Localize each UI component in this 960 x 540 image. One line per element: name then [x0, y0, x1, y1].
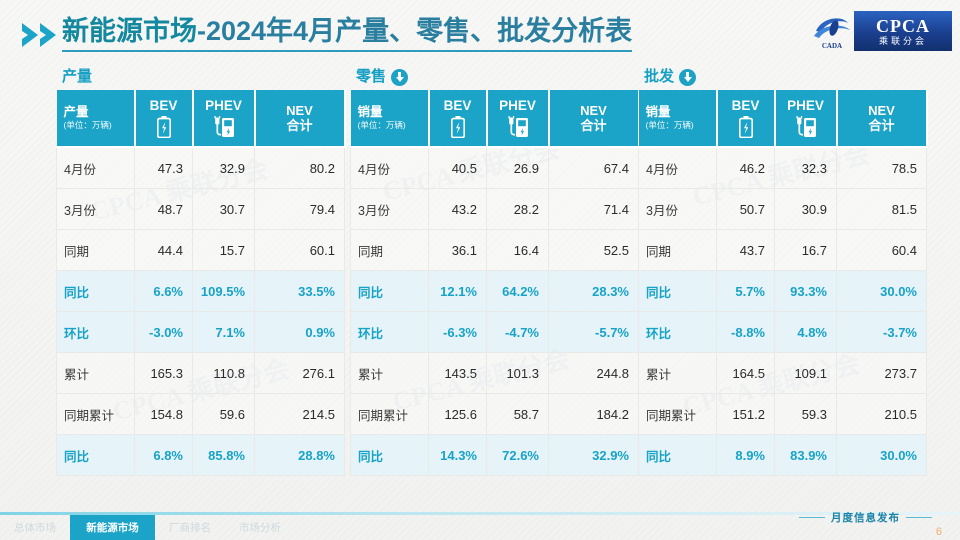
header-nev-label1: NEV: [550, 103, 638, 118]
header-cell-nev: NEV 合计: [837, 90, 927, 147]
header-phev-label: PHEV: [776, 98, 836, 113]
cell-nev: 244.8: [549, 353, 639, 394]
row-label: 环比: [57, 312, 135, 353]
cell-phev: 101.3: [487, 353, 549, 394]
cpca-logo: CADA CPCA 乘联分会: [810, 10, 952, 52]
header-bev-label: BEV: [136, 98, 192, 113]
row-label: 4月份: [57, 147, 135, 189]
cell-nev: -3.7%: [837, 312, 927, 353]
charging-station-icon: [194, 116, 254, 138]
cell-bev: 36.1: [429, 230, 487, 271]
cell-phev: 7.1%: [193, 312, 255, 353]
row-label: 4月份: [351, 147, 429, 189]
cell-phev: 85.8%: [193, 435, 255, 476]
row-label: 3月份: [57, 189, 135, 230]
battery-icon: [718, 116, 774, 138]
badge-rule-right: [906, 517, 932, 518]
table-header-row: 产量 (单位：万辆) BEV PHEV: [57, 90, 345, 147]
cell-bev: 14.3%: [429, 435, 487, 476]
row-label: 同期: [351, 230, 429, 271]
retail-table-body: 4月份40.526.967.4 3月份43.228.271.4 同期36.116…: [351, 147, 639, 476]
header-cell-bev: BEV: [429, 90, 487, 147]
table-row: 环比-8.8%4.8%-3.7%: [639, 312, 927, 353]
cell-bev: 40.5: [429, 147, 487, 189]
cell-nev: 60.4: [837, 230, 927, 271]
cell-phev: 32.3: [775, 147, 837, 189]
cell-phev: 16.4: [487, 230, 549, 271]
cell-phev: 109.1: [775, 353, 837, 394]
table-row: 同期36.116.452.5: [351, 230, 639, 271]
cell-nev: -5.7%: [549, 312, 639, 353]
page-number: 6: [936, 526, 942, 538]
battery-icon: [136, 116, 192, 138]
table-row: 4月份47.332.980.2: [57, 147, 345, 189]
row-label: 4月份: [639, 147, 717, 189]
table-row: 同比12.1%64.2%28.3%: [351, 271, 639, 312]
header-unit-label: (单位：万辆): [64, 120, 134, 131]
block-title-text: 零售: [356, 65, 386, 89]
cell-phev: 26.9: [487, 147, 549, 189]
footer-tabs: 总体市场 新能源市场 厂商排名 市场分析: [0, 515, 295, 540]
table-row: 累计143.5101.3244.8: [351, 353, 639, 394]
header-bev-label: BEV: [718, 98, 774, 113]
tab-label: 厂商排名: [169, 520, 211, 535]
header-phev-label: PHEV: [488, 98, 548, 113]
header-corner-label: 销量: [358, 105, 428, 120]
cell-nev: 67.4: [549, 147, 639, 189]
battery-icon: [430, 116, 486, 138]
cell-nev: 30.0%: [837, 435, 927, 476]
cell-bev: 151.2: [717, 394, 775, 435]
header-cell-phev: PHEV: [193, 90, 255, 147]
row-label: 同期累计: [57, 394, 135, 435]
cell-nev: 79.4: [255, 189, 345, 230]
cell-phev: 64.2%: [487, 271, 549, 312]
row-label: 3月份: [639, 189, 717, 230]
row-label: 同比: [639, 435, 717, 476]
cell-bev: 43.7: [717, 230, 775, 271]
charging-station-icon: [776, 116, 836, 138]
footer-right: 月度信息发布 6: [760, 508, 950, 540]
row-label: 累计: [351, 353, 429, 394]
header-cell-nev: NEV 合计: [255, 90, 345, 147]
cell-bev: 6.6%: [135, 271, 193, 312]
cell-phev: 109.5%: [193, 271, 255, 312]
header-cell-bev: BEV: [717, 90, 775, 147]
cell-nev: 28.8%: [255, 435, 345, 476]
header-nev-label1: NEV: [256, 103, 344, 118]
cell-phev: 59.3: [775, 394, 837, 435]
cell-phev: 110.8: [193, 353, 255, 394]
row-label: 同比: [351, 271, 429, 312]
svg-text:CADA: CADA: [822, 42, 842, 50]
cell-bev: 8.9%: [717, 435, 775, 476]
tab-market-analysis[interactable]: 市场分析: [225, 515, 295, 540]
cell-bev: 6.8%: [135, 435, 193, 476]
cell-phev: 72.6%: [487, 435, 549, 476]
table-row: 3月份48.730.779.4: [57, 189, 345, 230]
table-row: 4月份46.232.378.5: [639, 147, 927, 189]
cell-nev: 80.2: [255, 147, 345, 189]
tab-label: 新能源市场: [86, 520, 139, 535]
cell-bev: 125.6: [429, 394, 487, 435]
header-cell-rowlabel: 产量 (单位：万辆): [57, 90, 135, 147]
header-nev-label2: 合计: [550, 118, 638, 133]
header-cell-bev: BEV: [135, 90, 193, 147]
cell-bev: -8.8%: [717, 312, 775, 353]
cell-phev: 59.6: [193, 394, 255, 435]
header-cell-rowlabel: 销量 (单位：万辆): [639, 90, 717, 147]
cell-phev: 32.9: [193, 147, 255, 189]
table-row: 同比5.7%93.3%30.0%: [639, 271, 927, 312]
header-nev-label1: NEV: [838, 103, 926, 118]
table-row: 同期累计154.859.6214.5: [57, 394, 345, 435]
cell-phev: 16.7: [775, 230, 837, 271]
logo-subtext: 乘联分会: [879, 37, 927, 46]
table-row: 同期44.415.760.1: [57, 230, 345, 271]
header-cell-nev: NEV 合计: [549, 90, 639, 147]
cell-bev: -6.3%: [429, 312, 487, 353]
cell-bev: 46.2: [717, 147, 775, 189]
cell-nev: 28.3%: [549, 271, 639, 312]
tab-label: 总体市场: [14, 520, 56, 535]
header-nev-label2: 合计: [838, 118, 926, 133]
cell-nev: 214.5: [255, 394, 345, 435]
table-row: 同期累计151.259.3210.5: [639, 394, 927, 435]
table-block-retail: 零售 销量 (单位：万辆) BEV: [350, 64, 638, 476]
cell-bev: 43.2: [429, 189, 487, 230]
table-row: 累计165.3110.8276.1: [57, 353, 345, 394]
cell-phev: 4.8%: [775, 312, 837, 353]
table-row: 累计164.5109.1273.7: [639, 353, 927, 394]
cell-nev: 30.0%: [837, 271, 927, 312]
wholesale-table-body: 4月份46.232.378.5 3月份50.730.981.5 同期43.716…: [639, 147, 927, 476]
header-unit-label: (单位：万辆): [358, 120, 428, 131]
cell-nev: 78.5: [837, 147, 927, 189]
table-header-row: 销量 (单位：万辆) BEV PHEV: [351, 90, 639, 147]
cell-nev: 32.9%: [549, 435, 639, 476]
cell-phev: -4.7%: [487, 312, 549, 353]
table-row: 同期43.716.760.4: [639, 230, 927, 271]
tab-overall-market[interactable]: 总体市场: [0, 515, 70, 540]
cell-bev: 50.7: [717, 189, 775, 230]
header-corner-label: 销量: [646, 105, 716, 120]
production-table-body: 4月份47.332.980.2 3月份48.730.779.4 同期44.415…: [57, 147, 345, 476]
badge-rule-left: [799, 517, 825, 518]
table-block-production: 产量 产量 (单位：万辆) BEV PHEV: [56, 64, 344, 476]
cell-bev: 164.5: [717, 353, 775, 394]
page-title: 新能源市场-2024年4月产量、零售、批发分析表: [62, 14, 632, 52]
row-label: 3月份: [351, 189, 429, 230]
block-title-text: 批发: [644, 65, 674, 89]
table-block-wholesale: 批发 销量 (单位：万辆) BEV: [638, 64, 926, 476]
cell-nev: 71.4: [549, 189, 639, 230]
row-label: 同比: [351, 435, 429, 476]
header-cell-rowlabel: 销量 (单位：万辆): [351, 90, 429, 147]
table-row: 同期累计125.658.7184.2: [351, 394, 639, 435]
table-row: 同比8.9%83.9%30.0%: [639, 435, 927, 476]
footer-badge: 月度信息发布: [799, 510, 932, 525]
charging-station-icon: [488, 116, 548, 138]
cell-bev: 5.7%: [717, 271, 775, 312]
cell-phev: 30.7: [193, 189, 255, 230]
wholesale-table: 销量 (单位：万辆) BEV PHEV: [638, 90, 928, 476]
cell-nev: 52.5: [549, 230, 639, 271]
tab-label: 市场分析: [239, 520, 281, 535]
cell-phev: 15.7: [193, 230, 255, 271]
header-bev-label: BEV: [430, 98, 486, 113]
cell-bev: -3.0%: [135, 312, 193, 353]
logo-text: CPCA: [876, 17, 930, 35]
row-label: 同期: [639, 230, 717, 271]
page-title-sub: -2024年4月产量、零售、批发分析表: [197, 16, 632, 46]
circle-down-arrow-icon: [391, 69, 408, 86]
cell-nev: 276.1: [255, 353, 345, 394]
block-title-retail: 零售: [350, 64, 638, 90]
header-unit-label: (单位：万辆): [646, 120, 716, 131]
table-row: 4月份40.526.967.4: [351, 147, 639, 189]
cell-nev: 184.2: [549, 394, 639, 435]
cell-nev: 33.5%: [255, 271, 345, 312]
production-table: 产量 (单位：万辆) BEV PHEV: [56, 90, 346, 476]
circle-down-arrow-icon: [679, 69, 696, 86]
table-row: 同比6.6%109.5%33.5%: [57, 271, 345, 312]
row-label: 同期累计: [639, 394, 717, 435]
cell-phev: 58.7: [487, 394, 549, 435]
cell-nev: 60.1: [255, 230, 345, 271]
cell-bev: 47.3: [135, 147, 193, 189]
row-label: 同期: [57, 230, 135, 271]
block-title-wholesale: 批发: [638, 64, 926, 90]
table-row: 环比-6.3%-4.7%-5.7%: [351, 312, 639, 353]
cell-phev: 83.9%: [775, 435, 837, 476]
cell-nev: 273.7: [837, 353, 927, 394]
table-header-row: 销量 (单位：万辆) BEV PHEV: [639, 90, 927, 147]
cell-phev: 30.9: [775, 189, 837, 230]
row-label: 累计: [639, 353, 717, 394]
header-phev-label: PHEV: [194, 98, 254, 113]
cell-bev: 154.8: [135, 394, 193, 435]
cell-nev: 81.5: [837, 189, 927, 230]
header-cell-phev: PHEV: [487, 90, 549, 147]
table-row: 3月份43.228.271.4: [351, 189, 639, 230]
cada-swoosh-icon: CADA: [810, 11, 854, 51]
tab-nev-market[interactable]: 新能源市场: [70, 515, 155, 540]
retail-table: 销量 (单位：万辆) BEV PHEV: [350, 90, 640, 476]
table-row: 环比-3.0%7.1%0.9%: [57, 312, 345, 353]
page-title-main: 新能源市场: [62, 16, 197, 46]
cell-phev: 28.2: [487, 189, 549, 230]
row-label: 累计: [57, 353, 135, 394]
header-corner-label: 产量: [64, 105, 134, 120]
cell-bev: 12.1%: [429, 271, 487, 312]
row-label: 同期累计: [351, 394, 429, 435]
footer-badge-label: 月度信息发布: [831, 510, 900, 525]
row-label: 同比: [57, 435, 135, 476]
cell-bev: 143.5: [429, 353, 487, 394]
row-label: 同比: [57, 271, 135, 312]
cell-nev: 210.5: [837, 394, 927, 435]
header-cell-phev: PHEV: [775, 90, 837, 147]
cell-bev: 44.4: [135, 230, 193, 271]
logo-wordmark: CPCA 乘联分会: [854, 11, 952, 51]
table-row: 3月份50.730.981.5: [639, 189, 927, 230]
row-label: 环比: [639, 312, 717, 353]
slide-canvas: 新能源市场-2024年4月产量、零售、批发分析表 CADA CPCA 乘联分会 …: [0, 0, 960, 540]
header-nev-label2: 合计: [256, 118, 344, 133]
block-title-production: 产量: [56, 64, 344, 90]
table-row: 同比14.3%72.6%32.9%: [351, 435, 639, 476]
cell-bev: 165.3: [135, 353, 193, 394]
slide-header: 新能源市场-2024年4月产量、零售、批发分析表 CADA CPCA 乘联分会: [0, 0, 960, 62]
row-label: 同比: [639, 271, 717, 312]
cell-bev: 48.7: [135, 189, 193, 230]
block-title-text: 产量: [62, 65, 92, 89]
table-row: 同比6.8%85.8%28.8%: [57, 435, 345, 476]
cell-phev: 93.3%: [775, 271, 837, 312]
cell-nev: 0.9%: [255, 312, 345, 353]
row-label: 环比: [351, 312, 429, 353]
tab-manufacturer-ranking[interactable]: 厂商排名: [155, 515, 225, 540]
